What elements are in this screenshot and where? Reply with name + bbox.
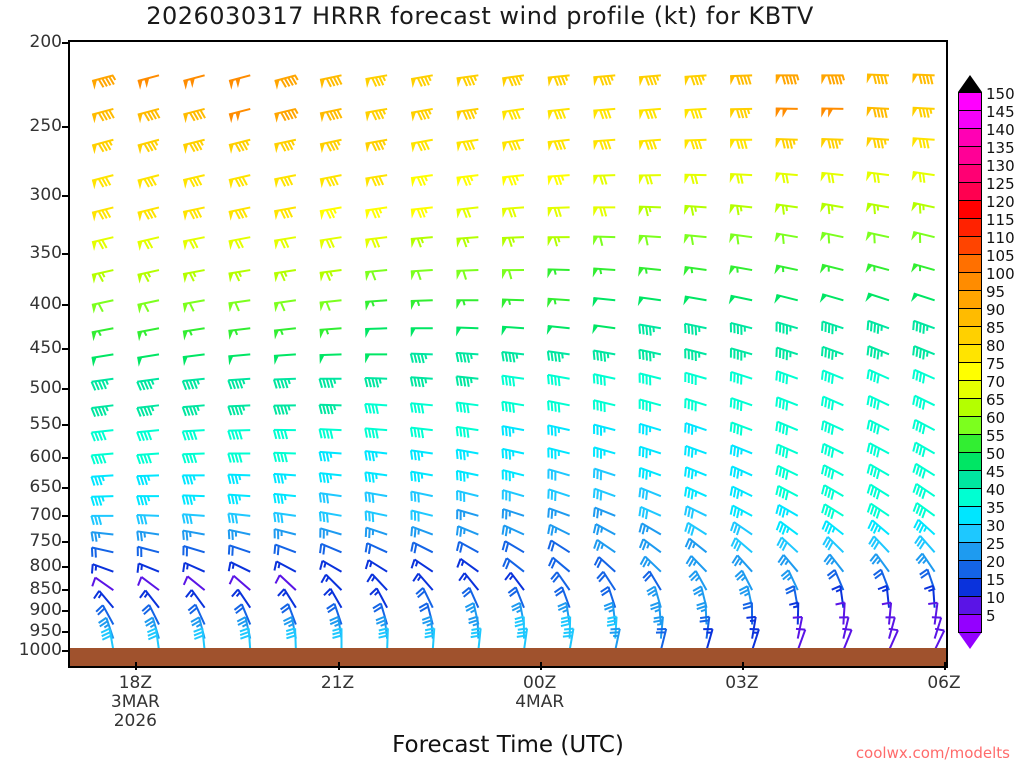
colorbar-swatch xyxy=(958,182,982,201)
barb-full xyxy=(878,350,879,359)
barb-full xyxy=(457,471,458,480)
barb-full xyxy=(564,629,573,630)
barb-pennant xyxy=(866,138,872,147)
barb-full xyxy=(102,454,105,463)
barb-half xyxy=(739,561,742,565)
barb-full xyxy=(232,431,235,440)
barb-half xyxy=(383,141,385,146)
colorbar-swatch xyxy=(958,416,982,435)
barb-full xyxy=(464,451,465,460)
barb-full xyxy=(239,430,242,439)
barb-pennant xyxy=(593,237,598,246)
wind-barb xyxy=(456,328,478,337)
barb-full xyxy=(779,507,781,516)
barb-full xyxy=(828,468,830,477)
barb-pennant xyxy=(92,212,97,222)
colorbar-swatch xyxy=(958,362,982,381)
wind-barb xyxy=(92,237,113,251)
wind-barb xyxy=(731,522,752,535)
barb-full xyxy=(281,474,283,483)
barb-full xyxy=(376,378,378,387)
barb-full xyxy=(920,204,921,213)
barb-full xyxy=(646,491,647,500)
barb-full xyxy=(326,302,329,311)
barb-full xyxy=(228,475,230,484)
barb-half xyxy=(376,474,377,479)
barb-full xyxy=(685,324,686,333)
barb-full xyxy=(232,380,235,389)
barb-full xyxy=(564,632,573,633)
barb-full xyxy=(600,207,603,216)
barb-full xyxy=(692,448,693,457)
barb-full xyxy=(923,108,925,117)
barb-half xyxy=(193,272,195,277)
wind-barb xyxy=(411,428,433,438)
barb-full xyxy=(323,405,325,414)
x-tick-mark xyxy=(540,662,542,670)
barb-full xyxy=(877,108,879,117)
barb-full xyxy=(92,578,95,587)
barb-full xyxy=(913,321,914,330)
wind-barb xyxy=(320,270,342,282)
barb-full xyxy=(877,510,880,519)
barb-half xyxy=(601,510,602,515)
barb-full xyxy=(688,489,689,498)
barb-full xyxy=(600,176,603,185)
wind-barb xyxy=(320,473,342,483)
barb-full xyxy=(776,505,778,514)
wind-barb xyxy=(501,327,524,336)
barb-full xyxy=(460,450,461,459)
wind-barb xyxy=(92,270,113,284)
wind-barb xyxy=(865,293,889,302)
barb-full xyxy=(376,239,380,248)
barb-pennant xyxy=(683,267,689,276)
barb-full xyxy=(321,575,326,583)
wind-barb xyxy=(320,109,342,122)
y-tick-label: 1000 xyxy=(19,640,62,660)
barb-full xyxy=(274,453,276,462)
barb-full xyxy=(285,405,288,414)
wind-barb xyxy=(638,297,661,306)
terrain-band xyxy=(70,648,946,666)
colorbar-tick-label: 80 xyxy=(986,337,1005,355)
barb-half xyxy=(608,353,609,358)
barb-half xyxy=(885,139,886,144)
wind-barb xyxy=(868,370,889,384)
wind-barb xyxy=(228,430,250,439)
barb-full xyxy=(506,376,507,385)
barb-full xyxy=(835,75,838,84)
wind-barb xyxy=(913,442,934,456)
barb-full xyxy=(148,632,157,636)
wind-barb xyxy=(457,427,479,438)
barb-pennant xyxy=(411,209,416,218)
barb-half xyxy=(555,528,556,533)
barb-full xyxy=(822,444,824,453)
barb-half xyxy=(113,76,116,80)
wind-barb xyxy=(822,347,843,360)
barb-full xyxy=(320,379,323,388)
wind-barb xyxy=(457,450,479,461)
barb-full xyxy=(874,373,875,382)
colorbar-tick-label: 15 xyxy=(986,571,1005,589)
colorbar-tick-label: 85 xyxy=(986,319,1005,337)
wind-barb xyxy=(183,237,205,250)
barb-full xyxy=(737,206,739,215)
barb-pennant xyxy=(684,235,690,244)
y-tick-label: 300 xyxy=(30,185,62,205)
y-tick-label: 550 xyxy=(30,414,62,434)
barb-full xyxy=(229,562,231,571)
barb-full xyxy=(183,407,186,416)
barb-full xyxy=(640,539,643,548)
barb-full xyxy=(274,474,276,483)
barb-full xyxy=(239,453,242,462)
barb-full xyxy=(469,620,478,623)
barb-full xyxy=(323,429,325,438)
barb-full xyxy=(411,450,412,459)
wind-barb xyxy=(731,445,752,457)
barb-full xyxy=(776,422,777,431)
barb-full xyxy=(506,402,507,411)
barb-full xyxy=(874,205,875,214)
barb-full xyxy=(366,543,367,552)
barb-full xyxy=(878,586,887,589)
barb-full xyxy=(277,379,280,388)
barb-pennant xyxy=(820,233,827,242)
barb-full xyxy=(323,513,324,522)
barb-full xyxy=(646,470,647,479)
barb-full xyxy=(562,76,565,85)
wind-barb xyxy=(183,531,205,541)
wind-barb xyxy=(822,444,843,458)
wind-barb xyxy=(138,140,159,154)
barb-full xyxy=(516,110,520,119)
barb-half xyxy=(785,560,788,564)
barb-half xyxy=(843,75,844,80)
barb-pennant xyxy=(137,331,142,341)
wind-barb xyxy=(730,109,752,118)
wind-barb xyxy=(240,628,250,650)
wind-barb xyxy=(457,175,479,187)
barb-full xyxy=(731,522,734,531)
barb-full xyxy=(885,75,887,84)
barb-full xyxy=(692,325,693,334)
barb-full xyxy=(137,476,140,485)
barb-pennant xyxy=(320,240,325,250)
barb-full xyxy=(594,351,595,360)
colorbar-tick-label: 20 xyxy=(986,553,1005,571)
barb-full xyxy=(183,431,186,440)
wind-barb xyxy=(411,300,433,310)
barb-half xyxy=(242,624,247,626)
barb-full xyxy=(919,75,921,84)
wind-barb xyxy=(911,264,935,273)
barb-full xyxy=(99,407,103,416)
barb-full xyxy=(783,508,785,517)
barb-full xyxy=(187,531,188,540)
barb-full xyxy=(463,177,467,186)
barb-full xyxy=(783,526,786,535)
barb-half xyxy=(793,140,794,145)
barb-full xyxy=(737,448,738,457)
wind-barb xyxy=(457,403,479,414)
barb-full xyxy=(646,236,648,245)
wind-barb xyxy=(274,379,296,389)
colorbar-tick-label: 125 xyxy=(986,175,1015,193)
barb-pennant xyxy=(638,236,644,245)
barb-full xyxy=(639,488,640,497)
barb-full xyxy=(871,486,874,495)
barb-full xyxy=(832,139,834,148)
barb-full xyxy=(333,635,342,638)
barb-full xyxy=(868,504,871,513)
wind-barb xyxy=(746,617,755,639)
barb-half xyxy=(376,452,377,457)
wind-barb xyxy=(411,403,433,413)
wind-barb xyxy=(411,328,433,337)
wind-barb xyxy=(775,139,797,149)
barb-full xyxy=(734,424,735,433)
wind-barb xyxy=(274,405,296,414)
wind-barb-field xyxy=(70,42,946,666)
barb-full xyxy=(144,407,148,416)
barb-full xyxy=(239,380,242,389)
barb-full xyxy=(548,525,550,534)
barb-full xyxy=(183,381,186,390)
barb-full xyxy=(914,503,917,512)
barb-pennant xyxy=(229,211,234,221)
barb-half xyxy=(144,331,146,336)
wind-barb xyxy=(594,469,615,481)
barb-full xyxy=(548,508,549,517)
barb-full xyxy=(555,402,556,411)
barb-full xyxy=(144,496,147,505)
barb-pennant xyxy=(684,175,689,184)
barb-full xyxy=(186,515,188,524)
colorbar-tick-label: 30 xyxy=(986,517,1005,535)
wind-barb xyxy=(92,354,114,366)
wind-barb xyxy=(639,507,660,519)
barb-full xyxy=(871,347,872,356)
wind-barb xyxy=(502,207,524,218)
wind-barb xyxy=(638,268,661,277)
wind-barb xyxy=(183,475,205,484)
colorbar-swatch xyxy=(958,488,982,507)
barb-full xyxy=(320,561,322,570)
wind-barb xyxy=(685,75,707,86)
barb-full xyxy=(744,109,747,118)
barb-full xyxy=(183,454,186,463)
barb-half xyxy=(878,205,879,210)
wind-barb xyxy=(548,140,570,151)
barb-full xyxy=(228,431,231,440)
barb-pennant xyxy=(138,144,143,154)
barb-full xyxy=(744,140,747,149)
barb-full xyxy=(228,406,231,415)
y-tick-label: 900 xyxy=(30,600,62,620)
wind-barb xyxy=(275,529,296,539)
barb-full xyxy=(871,445,873,454)
barb-full xyxy=(825,487,827,496)
barb-pennant xyxy=(365,354,370,363)
wind-barb xyxy=(457,109,479,121)
barb-full xyxy=(506,543,508,552)
barb-pennant xyxy=(502,78,507,88)
wind-barb xyxy=(731,398,752,411)
wind-barb xyxy=(92,547,113,557)
y-tick-label: 400 xyxy=(30,294,62,314)
barb-half xyxy=(750,620,755,621)
wind-barb xyxy=(183,405,205,416)
barb-half xyxy=(600,269,601,274)
barb-pennant xyxy=(502,238,507,247)
barb-full xyxy=(881,109,883,118)
colorbar-swatch xyxy=(958,326,982,345)
barb-full xyxy=(731,487,733,496)
barb-pennant xyxy=(92,304,97,314)
barb-full xyxy=(691,110,694,119)
barb-full xyxy=(421,177,425,186)
barb-full xyxy=(597,375,598,384)
barb-full xyxy=(366,511,367,520)
wind-barb xyxy=(471,628,481,650)
barb-full xyxy=(604,207,607,216)
barb-half xyxy=(462,561,464,566)
barb-full xyxy=(509,270,512,279)
barb-full xyxy=(828,525,832,534)
barb-full xyxy=(688,541,692,550)
barb-full xyxy=(467,378,469,387)
barb-pennant xyxy=(229,179,234,189)
barb-full xyxy=(868,420,870,429)
barb-full xyxy=(239,406,242,415)
barb-full xyxy=(927,109,929,118)
barb-full xyxy=(95,476,98,485)
barb-full xyxy=(281,514,282,523)
wind-barb xyxy=(456,376,478,386)
barb-full xyxy=(731,445,732,454)
barb-full xyxy=(240,632,249,635)
wind-barb xyxy=(547,269,569,278)
barb-full xyxy=(871,506,874,515)
wind-barb xyxy=(685,423,706,435)
wind-barb xyxy=(549,558,570,572)
barb-full xyxy=(137,382,141,391)
barb-pennant xyxy=(865,264,872,273)
barb-full xyxy=(148,636,157,640)
barb-full xyxy=(418,493,419,502)
barb-full xyxy=(415,492,416,501)
wind-barb xyxy=(366,528,387,538)
barb-full xyxy=(320,452,322,461)
barb-full xyxy=(369,545,370,554)
wind-barb xyxy=(731,466,752,478)
barb-half xyxy=(425,378,426,383)
barb-pennant xyxy=(92,331,97,341)
wind-barb xyxy=(275,575,295,590)
barb-pennant xyxy=(183,144,188,154)
colorbar-tick-label: 75 xyxy=(986,355,1005,373)
barb-full xyxy=(457,559,460,568)
barb-full xyxy=(699,109,702,118)
barb-pennant xyxy=(183,80,188,90)
barb-full xyxy=(832,351,833,360)
wind-barb xyxy=(91,496,113,506)
wind-barb xyxy=(821,173,844,183)
barb-full xyxy=(415,528,416,537)
barb-half xyxy=(510,575,513,579)
wind-barb xyxy=(821,139,843,149)
barb-full xyxy=(780,524,783,533)
barb-full xyxy=(889,629,898,630)
barb-pennant xyxy=(320,272,325,282)
wind-barb xyxy=(547,299,570,308)
barb-full xyxy=(737,526,740,535)
barb-pennant xyxy=(821,173,827,182)
barb-full xyxy=(367,574,372,582)
barb-full xyxy=(783,235,784,244)
barb-half xyxy=(418,576,421,580)
x-tick-label: 18Z3MAR2026 xyxy=(111,674,160,731)
barb-full xyxy=(555,111,558,120)
barb-full xyxy=(281,405,284,414)
barb-pennant xyxy=(274,210,279,220)
wind-barb xyxy=(502,270,524,279)
barb-full xyxy=(685,523,688,532)
wind-barb xyxy=(776,505,797,518)
barb-full xyxy=(102,407,106,416)
barb-full xyxy=(235,495,237,504)
barb-full xyxy=(470,110,474,119)
barb-full xyxy=(913,346,914,355)
barb-full xyxy=(917,322,918,331)
barb-pennant xyxy=(138,113,143,123)
barb-full xyxy=(463,238,466,247)
barb-pennant xyxy=(685,110,690,119)
wind-barb xyxy=(777,521,798,534)
barb-full xyxy=(786,75,789,84)
barb-full xyxy=(640,523,642,532)
barb-full xyxy=(277,406,280,415)
wind-barb xyxy=(365,207,387,219)
barb-full xyxy=(285,453,287,462)
barb-full xyxy=(457,427,458,436)
barb-pennant xyxy=(183,357,188,367)
barb-full xyxy=(327,494,328,503)
barb-full xyxy=(326,272,330,281)
barb-pennant xyxy=(320,329,325,338)
wind-barb xyxy=(548,508,569,519)
barb-full xyxy=(923,139,925,148)
barb-full xyxy=(868,321,869,330)
barb-full xyxy=(457,450,458,459)
barb-full xyxy=(700,620,709,621)
wind-barb xyxy=(911,203,934,214)
barb-pennant xyxy=(548,237,553,246)
wind-barb xyxy=(868,484,889,499)
wind-barb xyxy=(502,140,524,152)
barb-full xyxy=(920,139,922,148)
barb-full xyxy=(327,379,330,388)
barb-full xyxy=(274,494,276,503)
barb-full xyxy=(594,540,597,549)
barb-full xyxy=(839,75,842,84)
wind-barb xyxy=(365,378,387,387)
barb-full xyxy=(737,174,739,183)
barb-full xyxy=(594,508,595,517)
